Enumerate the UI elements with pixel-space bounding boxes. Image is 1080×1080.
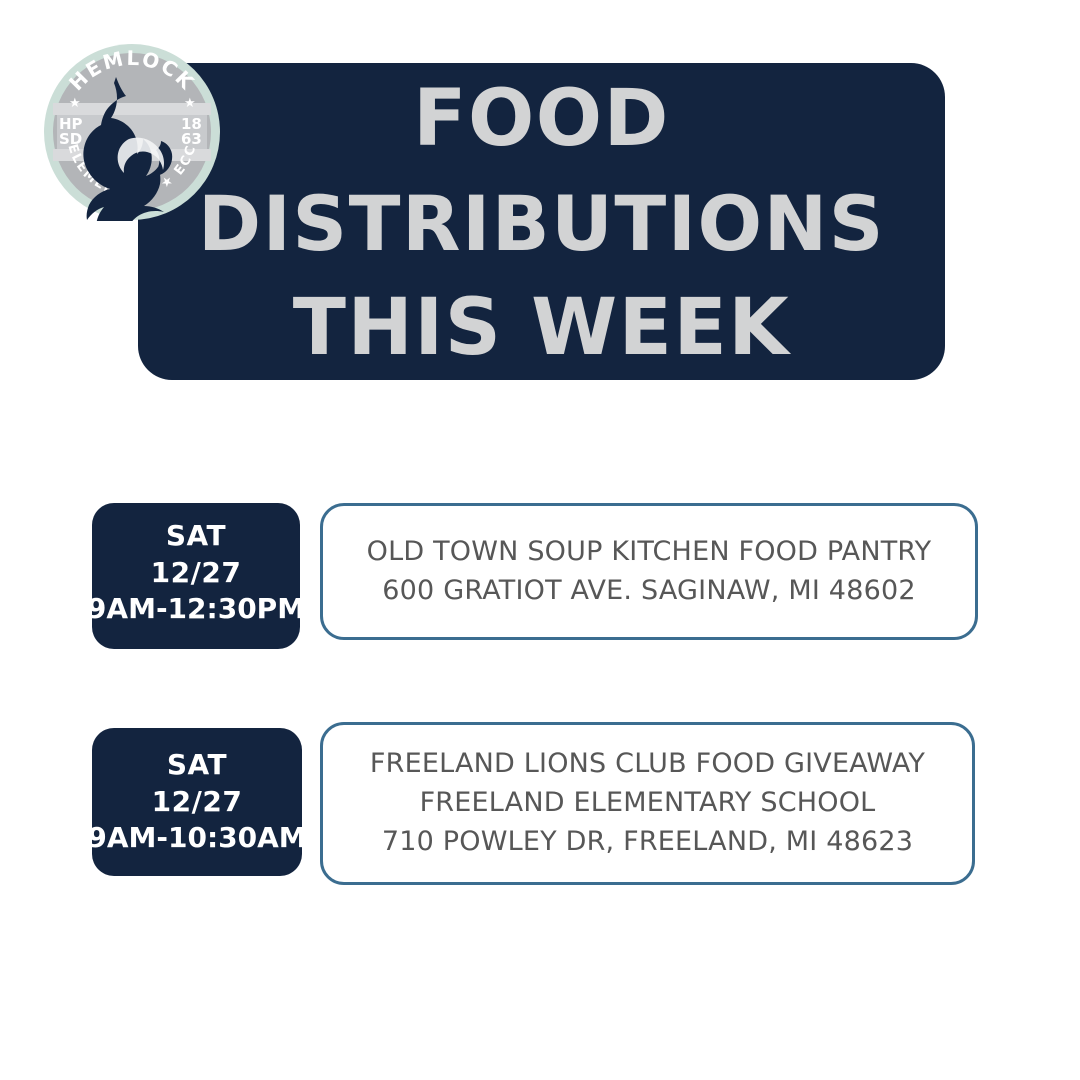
school-logo: HEMLOCK ELEMENTARY ★ ECC ★ ★ HP SD 18 63 bbox=[43, 43, 221, 221]
venue-address-line: 710 POWLEY DR, FREELAND, MI 48623 bbox=[382, 823, 913, 862]
venue-address-line: 600 GRATIOT AVE. SAGINAW, MI 48602 bbox=[382, 572, 915, 611]
logo-star-right-icon: ★ bbox=[184, 95, 196, 110]
entry-venue-card: FREELAND LIONS CLUB FOOD GIVEAWAY FREELA… bbox=[320, 722, 975, 885]
distribution-entry: SAT 12/27 9AM-12:30PM OLD TOWN SOUP KITC… bbox=[92, 503, 978, 649]
entry-day-label: SAT bbox=[166, 518, 226, 554]
page-title-line-1: FOOD bbox=[413, 66, 670, 172]
page-title-line-2: DISTRIBUTIONS bbox=[198, 172, 885, 275]
distribution-entry: SAT 12/27 9AM-10:30AM FREELAND LIONS CLU… bbox=[92, 722, 975, 885]
entry-date-label: 12/27 bbox=[152, 784, 243, 820]
logo-year-63-text: 63 bbox=[181, 130, 202, 148]
page-title-line-3: THIS WEEK bbox=[293, 275, 790, 381]
venue-sub-name: FREELAND ELEMENTARY SCHOOL bbox=[420, 784, 876, 823]
entry-time-label: 9AM-12:30PM bbox=[87, 591, 305, 627]
venue-name: OLD TOWN SOUP KITCHEN FOOD PANTRY bbox=[367, 533, 932, 572]
entry-day-label: SAT bbox=[167, 747, 227, 783]
header-banner: FOOD DISTRIBUTIONS THIS WEEK bbox=[138, 63, 945, 380]
venue-name: FREELAND LIONS CLUB FOOD GIVEAWAY bbox=[370, 745, 925, 784]
entry-date-block: SAT 12/27 9AM-10:30AM bbox=[92, 728, 302, 876]
entry-time-label: 9AM-10:30AM bbox=[87, 820, 306, 856]
entry-date-label: 12/27 bbox=[151, 555, 242, 591]
entry-venue-card: OLD TOWN SOUP KITCHEN FOOD PANTRY 600 GR… bbox=[320, 503, 978, 640]
entry-date-block: SAT 12/27 9AM-12:30PM bbox=[92, 503, 300, 649]
logo-sd-text: SD bbox=[59, 130, 82, 148]
logo-star-left-icon: ★ bbox=[69, 95, 81, 110]
